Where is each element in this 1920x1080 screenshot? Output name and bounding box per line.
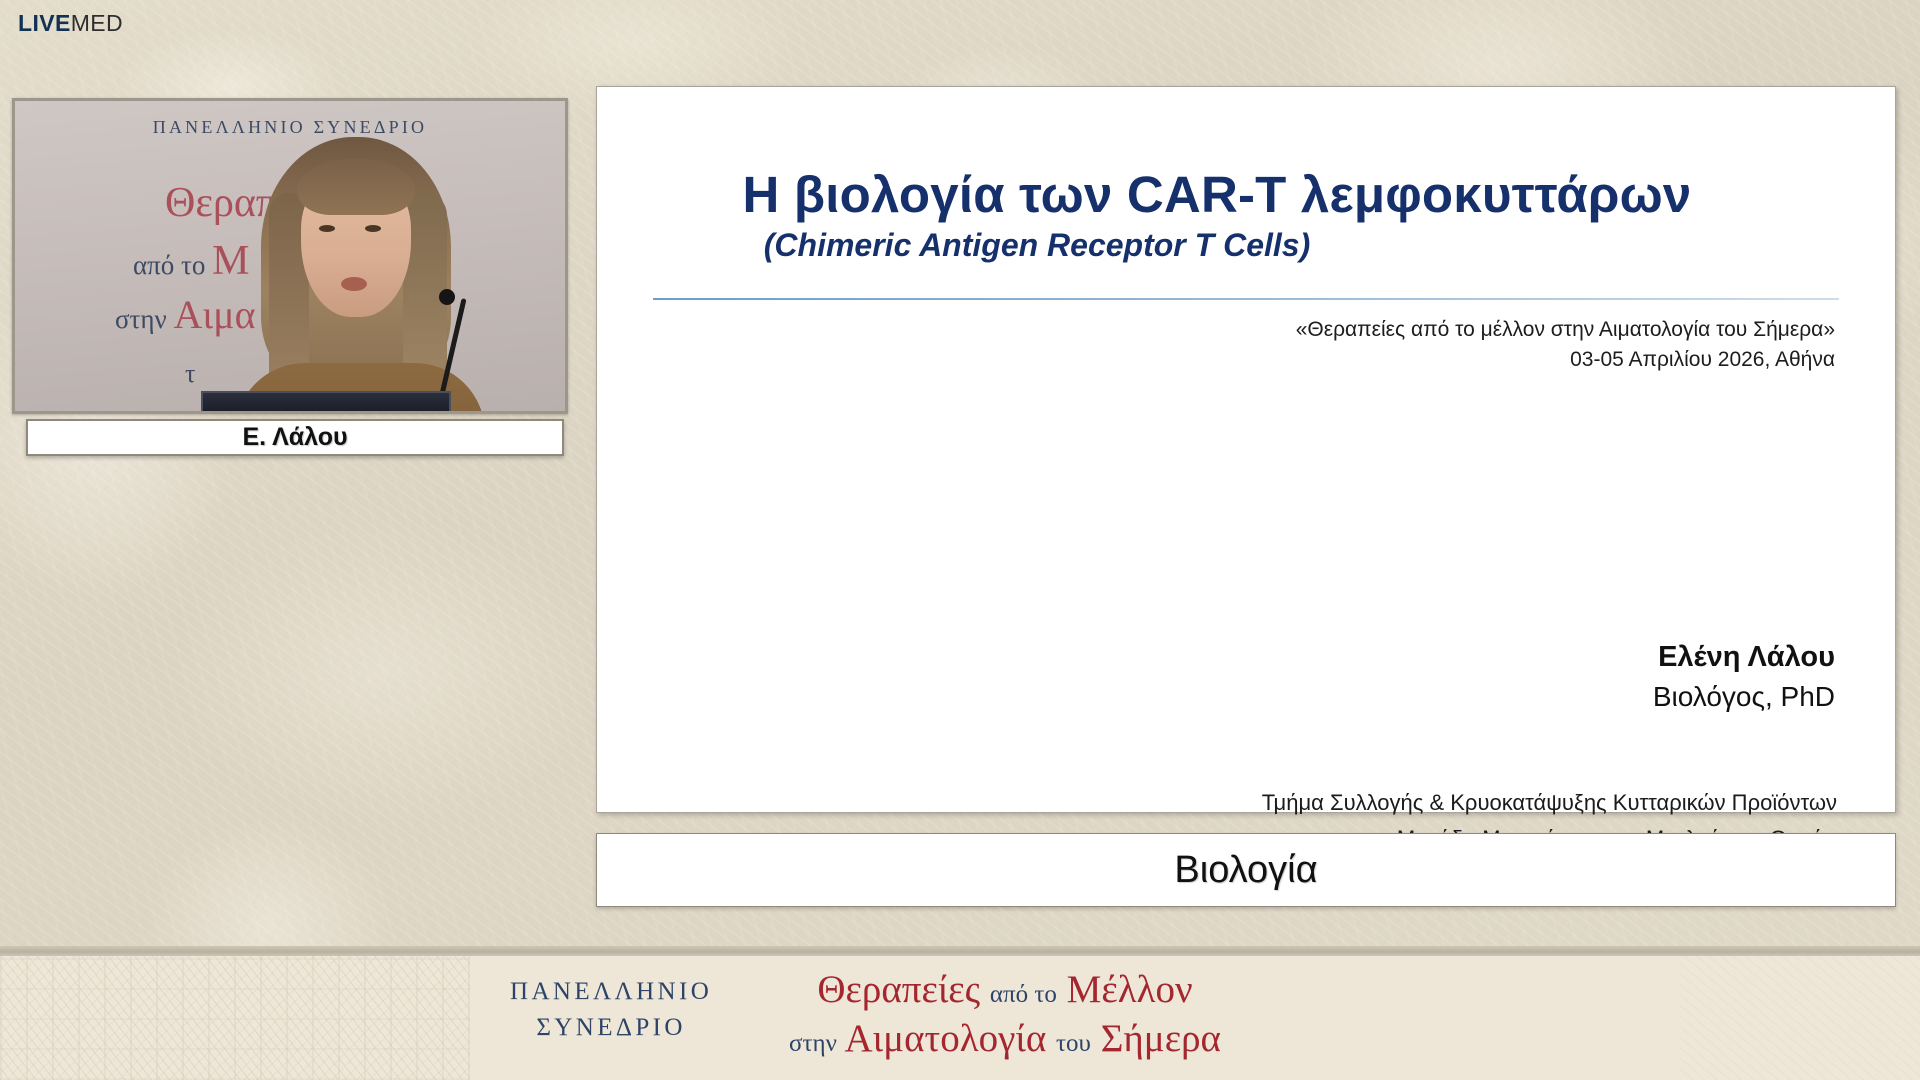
- author-block: Ελένη Λάλου Βιολόγος, PhD: [1653, 639, 1835, 716]
- author-role: Βιολόγος, PhD: [1653, 677, 1835, 716]
- livemed-logo: LIVEMED: [18, 12, 123, 35]
- backdrop-line-3-prefix: στην: [115, 304, 173, 334]
- speaker-figure: [253, 137, 459, 411]
- backdrop-line-3: στην Αιμα: [115, 291, 256, 338]
- backdrop-line-4: τ: [185, 359, 195, 389]
- footer-divider: [0, 946, 1920, 956]
- logo-live-text: LIVE: [18, 10, 71, 36]
- footer-theme-word-in: στην: [789, 1030, 837, 1057]
- footer-theme-word-hematology: Αιματολογία: [845, 1017, 1047, 1060]
- footer-theme-word-of: του: [1056, 1030, 1091, 1057]
- slide-subtitle: (Chimeric Antigen Receptor T Cells): [597, 227, 1477, 264]
- speaker-eye-left: [319, 225, 335, 232]
- speaker-name-label: Ε. Λάλου: [242, 423, 347, 452]
- footer-congress-line-2: ΣΥΝΕΔΡΙΟ: [510, 1010, 712, 1046]
- podium-laptop: [201, 391, 451, 411]
- footer-theme-word-future: Μέλλον: [1067, 968, 1193, 1011]
- speaker-bangs: [297, 159, 415, 215]
- conference-info: «Θεραπείες από το μέλλον στην Αιματολογί…: [1296, 315, 1835, 375]
- speaker-video-frame: ΠΑΝΕΛΛΗΝΙΟ ΣΥΝΕΔΡΙΟ Θεραπ από το Μ στην …: [15, 101, 565, 411]
- footer-theme-line-2: στην Αιματολογία του Σήμερα: [770, 1015, 1240, 1064]
- microphone-head-icon: [439, 289, 455, 305]
- footer-theme-word-from-the: από το: [990, 981, 1057, 1008]
- caption-text: Βιολογία: [1174, 849, 1317, 892]
- footer-theme-word-therapies: Θεραπείες: [817, 968, 980, 1011]
- footer-congress-name: ΠΑΝΕΛΛΗΝΙΟ ΣΥΝΕΔΡΙΟ: [510, 974, 712, 1046]
- footer-theme-line-1: Θεραπείες από το Μέλλον: [770, 966, 1240, 1015]
- backdrop-line-2-accent: Μ: [212, 238, 249, 284]
- slide-title: Η βιολογία των CAR-T λεμφοκυττάρων: [597, 165, 1837, 224]
- logo-med-text: MED: [71, 10, 123, 36]
- backdrop-header-text: ΠΑΝΕΛΛΗΝΙΟ ΣΥΝΕΔΡΙΟ: [15, 117, 565, 138]
- speaker-name-plate: Ε. Λάλου: [26, 419, 564, 456]
- author-name: Ελένη Λάλου: [1653, 639, 1835, 677]
- footer-building-engraving: [0, 956, 470, 1080]
- speaker-eye-right: [365, 225, 381, 232]
- slide-caption-bar: Βιολογία: [596, 833, 1896, 907]
- speaker-mouth: [341, 277, 367, 291]
- footer-engraving-right: [1680, 956, 1920, 1080]
- footer-congress-line-1: ΠΑΝΕΛΛΗΝΙΟ: [510, 974, 712, 1010]
- footer-theme-logo: Θεραπείες από το Μέλλον στην Αιματολογία…: [770, 966, 1240, 1064]
- page-footer: ΠΑΝΕΛΛΗΝΙΟ ΣΥΝΕΔΡΙΟ Θεραπείες από το Μέλ…: [0, 946, 1920, 1080]
- slide-divider: [653, 298, 1839, 300]
- backdrop-line-2-prefix: από το: [133, 250, 212, 280]
- affiliation-line-1: Τμήμα Συλλογής & Κρυοκατάψυξης Κυτταρικώ…: [1262, 785, 1837, 821]
- backdrop-line-3-accent: Αιμα: [173, 292, 255, 337]
- conference-date: 03-05 Απριλίου 2026, Αθήνα: [1296, 345, 1835, 375]
- footer-theme-word-today: Σήμερα: [1101, 1017, 1221, 1060]
- conference-title: «Θεραπείες από το μέλλον στην Αιματολογί…: [1296, 315, 1835, 345]
- presentation-slide[interactable]: Η βιολογία των CAR-T λεμφοκυττάρων (Chim…: [596, 86, 1896, 813]
- backdrop-line-2: από το Μ: [133, 237, 250, 285]
- speaker-video-player[interactable]: ΠΑΝΕΛΛΗΝΙΟ ΣΥΝΕΔΡΙΟ Θεραπ από το Μ στην …: [12, 98, 568, 414]
